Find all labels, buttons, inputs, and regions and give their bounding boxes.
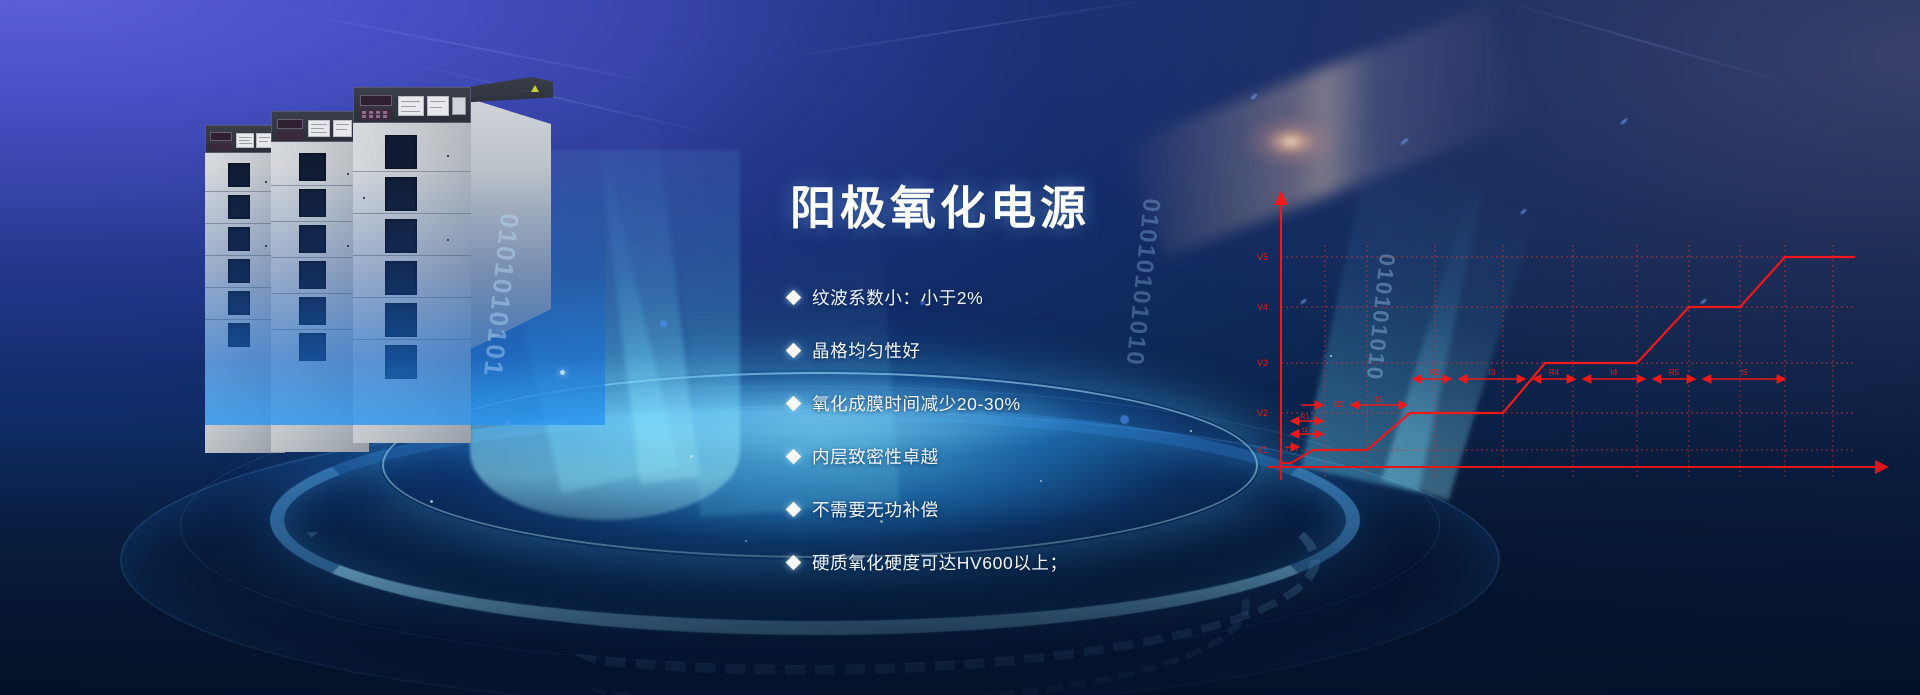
diamond-bullet-icon xyxy=(786,555,802,571)
list-item-label: 纹波系数小：小于2% xyxy=(812,285,983,310)
list-item-label: 晶格均匀性好 xyxy=(812,338,921,363)
feature-list: 纹波系数小：小于2% 晶格均匀性好 氧化成膜时间减少20-30% 内层致密性卓越… xyxy=(788,285,1248,603)
diamond-bullet-icon xyxy=(786,449,802,465)
list-item: 内层致密性卓越 xyxy=(788,444,1248,469)
list-item-label: 内层致密性卓越 xyxy=(812,444,939,469)
list-item: 氧化成膜时间减少20-30% xyxy=(788,391,1248,416)
list-item: 晶格均匀性好 xyxy=(788,338,1248,363)
list-item-label: 硬质氧化硬度可达HV600以上； xyxy=(812,550,1068,575)
diamond-bullet-icon xyxy=(786,396,802,412)
diamond-bullet-icon xyxy=(786,290,802,306)
diamond-bullet-icon xyxy=(786,343,802,359)
diamond-bullet-icon xyxy=(786,502,802,518)
list-item-label: 不需要无功补偿 xyxy=(812,497,939,522)
list-item: 不需要无功补偿 xyxy=(788,497,1248,522)
banner-stage: 0101010101 01010101010 010101010 xyxy=(0,0,1920,695)
list-item: 硬质氧化硬度可达HV600以上； xyxy=(788,550,1248,575)
page-title: 阳极氧化电源 xyxy=(790,172,1090,238)
list-item-label: 氧化成膜时间减少20-30% xyxy=(812,391,1021,416)
list-item: 纹波系数小：小于2% xyxy=(788,285,1248,310)
